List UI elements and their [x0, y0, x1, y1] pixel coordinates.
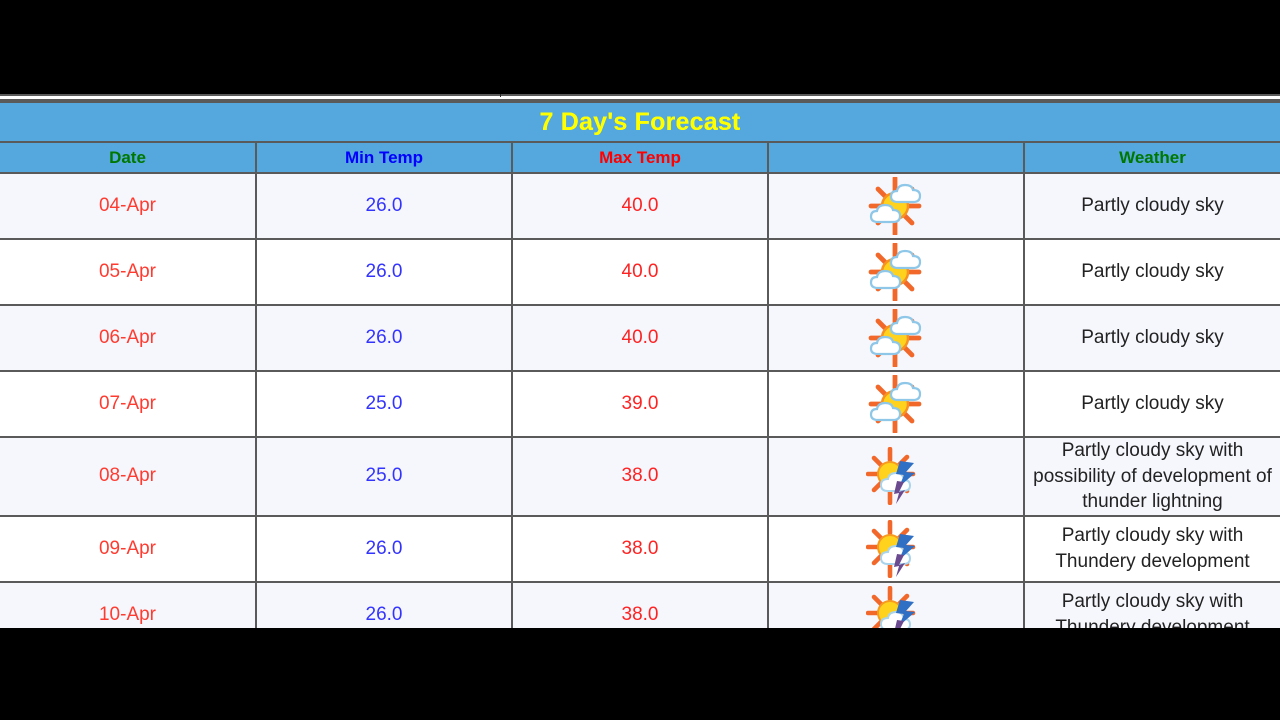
cell-date: 09-Apr — [0, 516, 256, 582]
column-header-date: Date — [0, 142, 256, 173]
cell-weather-icon — [768, 516, 1024, 582]
table-row: 07-Apr25.039.0Partly cloudy sky — [0, 371, 1280, 437]
table-row: 08-Apr25.038.0Partly cloudy sky with pos… — [0, 437, 1280, 516]
column-header-weather: Weather — [1024, 142, 1280, 173]
cell-max-temp: 40.0 — [512, 173, 768, 239]
table-row: 05-Apr26.040.0Partly cloudy sky — [0, 239, 1280, 305]
cell-max-temp: 40.0 — [512, 305, 768, 371]
forecast-rows: 04-Apr26.040.0Partly cloudy sky05-Apr26.… — [0, 173, 1280, 628]
cell-weather-description: Partly cloudy sky — [1024, 239, 1280, 305]
cell-date: 10-Apr — [0, 582, 256, 628]
column-header-icon — [768, 142, 1024, 173]
cell-weather-icon — [768, 173, 1024, 239]
page-title: 7 Day's Forecast — [540, 108, 741, 136]
sun-thunder-lightning-icon — [866, 540, 926, 557]
cell-min-temp: 26.0 — [256, 516, 512, 582]
table-header-row: Date Min Temp Max Temp Weather — [0, 142, 1280, 173]
cell-min-temp: 26.0 — [256, 305, 512, 371]
partly-cloudy-sun-icon — [865, 395, 927, 412]
cell-min-temp: 26.0 — [256, 239, 512, 305]
partly-cloudy-sun-icon — [865, 197, 927, 214]
cell-weather-description: Partly cloudy sky — [1024, 173, 1280, 239]
forecast-table: 7 Day's Forecast Date Min Temp Max Temp … — [0, 101, 1280, 628]
cell-min-temp: 26.0 — [256, 173, 512, 239]
cell-weather-icon — [768, 582, 1024, 628]
partly-cloudy-sun-icon — [865, 263, 927, 280]
partly-cloudy-sun-icon — [865, 329, 927, 346]
cell-weather-icon — [768, 437, 1024, 516]
cell-weather-icon — [768, 305, 1024, 371]
cell-weather-icon — [768, 371, 1024, 437]
cell-weather-description: Partly cloudy sky with possibility of de… — [1024, 437, 1280, 516]
cell-date: 08-Apr — [0, 437, 256, 516]
table-row: 09-Apr26.038.0Partly cloudy sky with Thu… — [0, 516, 1280, 582]
cell-weather-description: Partly cloudy sky with Thundery developm… — [1024, 582, 1280, 628]
cell-max-temp: 38.0 — [512, 582, 768, 628]
sun-thunder-lightning-icon — [866, 606, 926, 623]
table-row: 06-Apr26.040.0Partly cloudy sky — [0, 305, 1280, 371]
column-header-max-temp: Max Temp — [512, 142, 768, 173]
sun-thunder-lightning-icon — [866, 468, 926, 485]
cell-weather-description: Partly cloudy sky — [1024, 305, 1280, 371]
cell-max-temp: 39.0 — [512, 371, 768, 437]
cell-min-temp: 26.0 — [256, 582, 512, 628]
screen: 7 Day's Forecast Date Min Temp Max Temp … — [0, 0, 1280, 720]
cell-date: 07-Apr — [0, 371, 256, 437]
cell-weather-description: Partly cloudy sky with Thundery developm… — [1024, 516, 1280, 582]
page-top-rule — [0, 94, 1280, 101]
cell-min-temp: 25.0 — [256, 437, 512, 516]
forecast-title-cell: 7 Day's Forecast — [0, 102, 1280, 142]
cell-max-temp: 38.0 — [512, 437, 768, 516]
top-rule-tick — [500, 94, 501, 97]
cell-date: 04-Apr — [0, 173, 256, 239]
table-row: 04-Apr26.040.0Partly cloudy sky — [0, 173, 1280, 239]
cell-weather-description: Partly cloudy sky — [1024, 371, 1280, 437]
cell-date: 06-Apr — [0, 305, 256, 371]
cell-max-temp: 38.0 — [512, 516, 768, 582]
table-row: 10-Apr26.038.0Partly cloudy sky with Thu… — [0, 582, 1280, 628]
page-content-area: 7 Day's Forecast Date Min Temp Max Temp … — [0, 94, 1280, 628]
cell-max-temp: 40.0 — [512, 239, 768, 305]
cell-weather-icon — [768, 239, 1024, 305]
cell-min-temp: 25.0 — [256, 371, 512, 437]
cell-date: 05-Apr — [0, 239, 256, 305]
column-header-min-temp: Min Temp — [256, 142, 512, 173]
forecast-title-row: 7 Day's Forecast — [0, 102, 1280, 142]
